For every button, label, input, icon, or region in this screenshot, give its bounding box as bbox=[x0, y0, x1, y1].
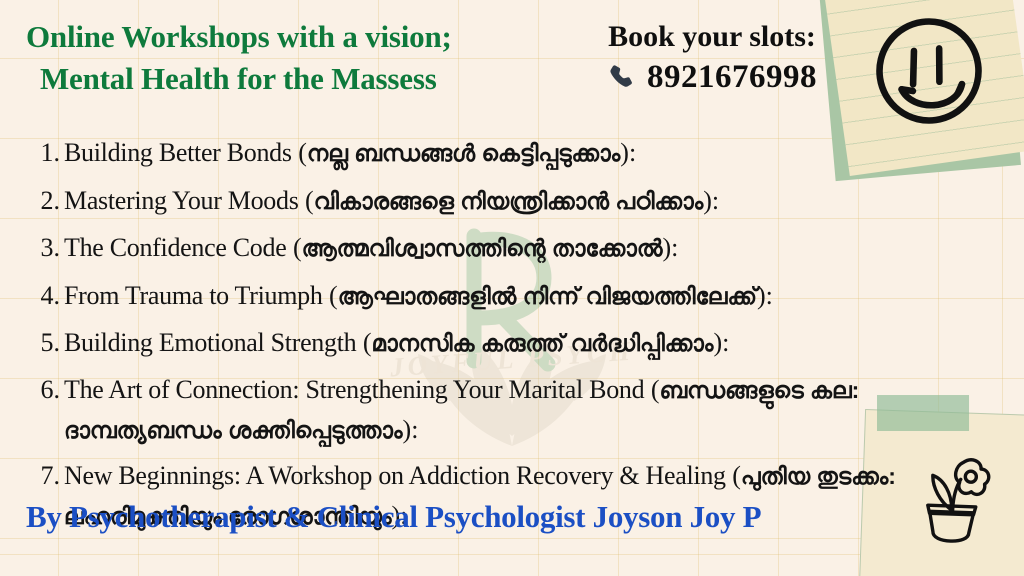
headline-line-2: Mental Health for the Massess bbox=[26, 58, 556, 100]
workshop-title-en: The Confidence Code bbox=[64, 233, 286, 262]
close-paren: ): bbox=[403, 415, 419, 444]
smiley-face-icon bbox=[854, 0, 1003, 146]
workshop-list: Building Better Bonds (നല്ല ബന്ധങ്ങൾ കെട… bbox=[34, 134, 952, 545]
open-paren: ( bbox=[644, 375, 659, 404]
workshop-title-en: The Art of Connection: Strengthening You… bbox=[64, 375, 644, 404]
poster-footer: By Psychotherapist & Clinical Psychologi… bbox=[26, 497, 926, 537]
phone-number[interactable]: 8921676998 bbox=[647, 58, 817, 96]
workshop-title-ml: ആഘാതങ്ങളിൽ നിന്ന് വിജയത്തിലേക്ക് bbox=[338, 283, 757, 309]
close-paren: ): bbox=[703, 186, 719, 215]
workshop-title-ml: മാനസിക കരുത്ത് വർദ്ധിപ്പിക്കാം bbox=[372, 330, 714, 356]
open-paren: ( bbox=[292, 138, 307, 167]
booking-block: Book your slots: 8921676998 bbox=[572, 18, 852, 96]
open-paren: ( bbox=[299, 186, 314, 215]
workshop-title-en: Building Emotional Strength bbox=[64, 328, 356, 357]
phone-row[interactable]: 8921676998 bbox=[572, 58, 852, 96]
workshop-title-en: From Trauma to Triumph bbox=[64, 281, 323, 310]
headline-line-1: Online Workshops with a vision; bbox=[26, 16, 556, 58]
close-paren: ): bbox=[620, 138, 636, 167]
list-item: The Art of Connection: Strengthening You… bbox=[34, 372, 952, 452]
list-item: From Trauma to Triumph (ആഘാതങ്ങളിൽ നിന്ന… bbox=[34, 277, 952, 318]
open-paren: ( bbox=[726, 461, 741, 490]
workshop-title-ml: വികാരങ്ങളെ നിയന്ത്രിക്കാൻ പഠിക്കാം bbox=[314, 188, 704, 214]
presenter-credit: By Psychotherapist & Clinical Psychologi… bbox=[26, 497, 926, 537]
close-paren: ): bbox=[713, 328, 729, 357]
workshop-title-en: New Beginnings: A Workshop on Addiction … bbox=[64, 461, 726, 490]
workshop-title-ml: ആത്മവിശ്വാസത്തിന്റെ താക്കോൽ bbox=[302, 235, 663, 261]
booking-title: Book your slots: bbox=[572, 18, 852, 56]
poster-canvas: JOYFUL PSYCH Online Workshops with a vis… bbox=[0, 0, 1024, 576]
open-paren: ( bbox=[286, 233, 301, 262]
open-paren: ( bbox=[323, 281, 338, 310]
workshop-title-en: Building Better Bonds bbox=[64, 138, 292, 167]
workshop-title-en: Mastering Your Moods bbox=[64, 186, 299, 215]
phone-handset-icon bbox=[607, 62, 637, 92]
list-item: The Confidence Code (ആത്മവിശ്വാസത്തിന്റെ… bbox=[34, 229, 952, 270]
close-paren: ): bbox=[757, 281, 773, 310]
workshop-title-ml: നല്ല ബന്ധങ്ങൾ കെട്ടിപ്പടുക്കാം bbox=[307, 140, 620, 166]
list-item: Building Better Bonds (നല്ല ബന്ധങ്ങൾ കെട… bbox=[34, 134, 952, 175]
poster-headline: Online Workshops with a vision; Mental H… bbox=[26, 16, 556, 100]
list-item: Building Emotional Strength (മാനസിക കരുത… bbox=[34, 324, 952, 365]
open-paren: ( bbox=[356, 328, 371, 357]
list-item: Mastering Your Moods (വികാരങ്ങളെ നിയന്ത്… bbox=[34, 182, 952, 223]
close-paren: ): bbox=[662, 233, 678, 262]
